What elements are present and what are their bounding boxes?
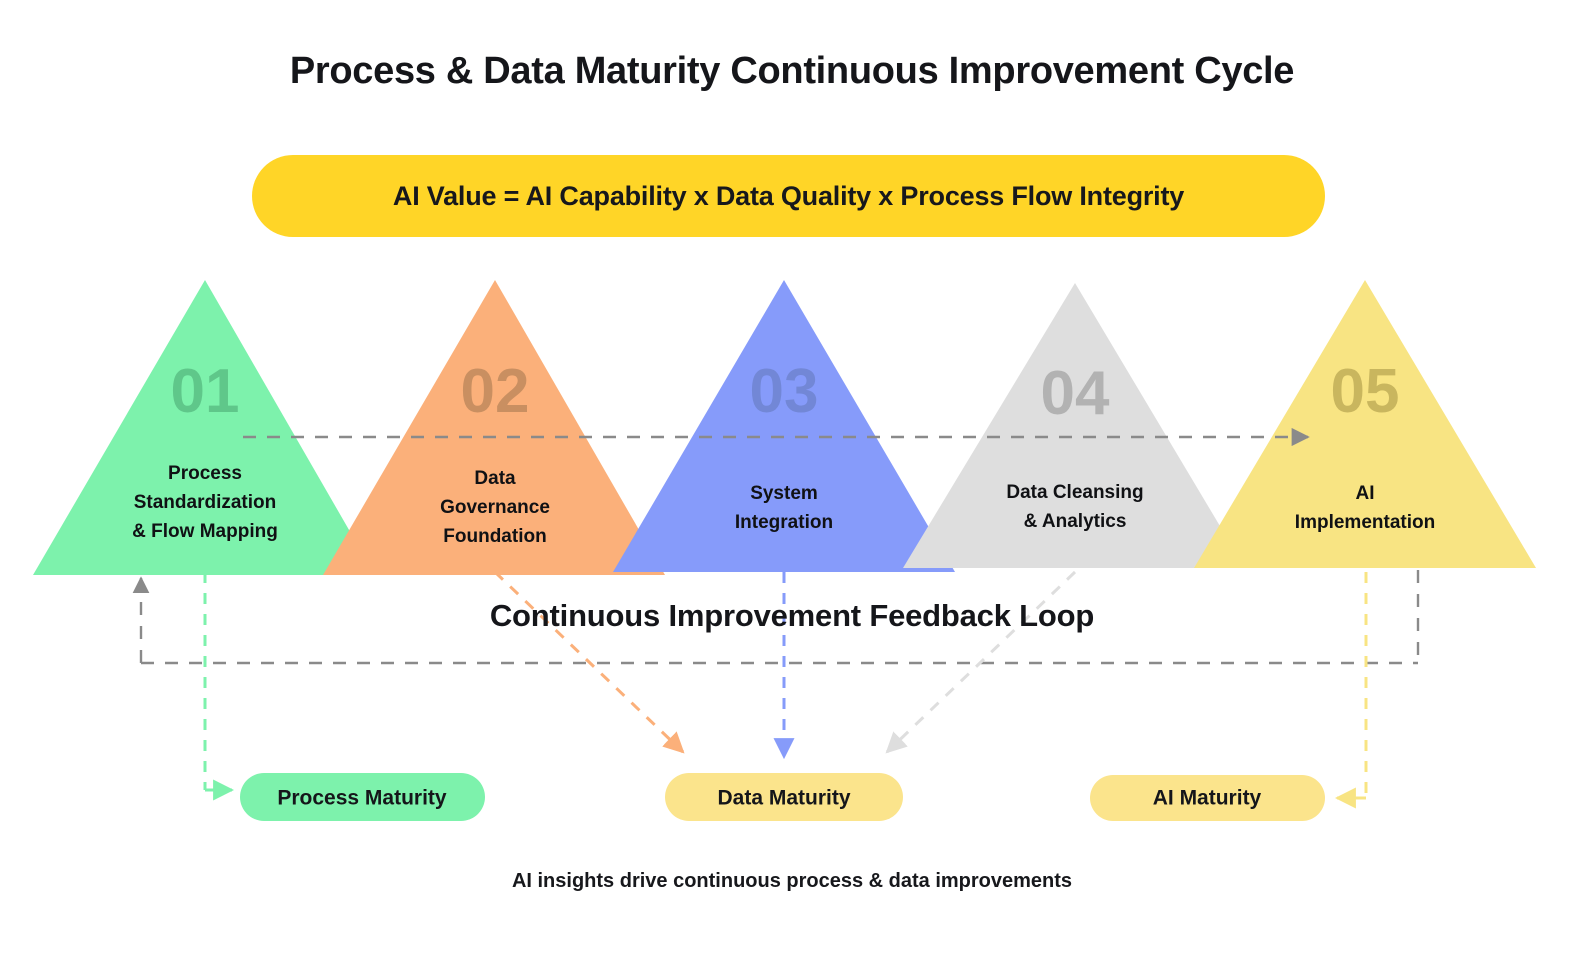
svg-text:System: System bbox=[750, 483, 818, 504]
stage-number-05: 05 bbox=[1331, 357, 1400, 426]
stage-number-03: 03 bbox=[750, 357, 819, 426]
svg-text:Foundation: Foundation bbox=[443, 526, 546, 547]
svg-text:& Analytics: & Analytics bbox=[1024, 511, 1127, 532]
svg-text:Standardization: Standardization bbox=[134, 492, 277, 513]
svg-text:Governance: Governance bbox=[440, 497, 550, 518]
svg-text:AI: AI bbox=[1356, 483, 1375, 504]
badge-data-maturity-label: Data Maturity bbox=[717, 787, 850, 810]
footer-caption: AI insights drive continuous process & d… bbox=[0, 870, 1584, 893]
feedback-loop-title: Continuous Improvement Feedback Loop bbox=[0, 598, 1584, 634]
badge-data-maturity[interactable]: Data Maturity bbox=[665, 773, 903, 821]
badge-ai-maturity-label: AI Maturity bbox=[1153, 787, 1262, 810]
badge-process-maturity-label: Process Maturity bbox=[277, 787, 447, 810]
svg-text:Data Cleansing: Data Cleansing bbox=[1006, 482, 1143, 503]
badge-ai-maturity[interactable]: AI Maturity bbox=[1090, 775, 1325, 821]
maturity-diagram: 01 02 03 04 05 Process Standardization &… bbox=[0, 0, 1584, 966]
svg-text:Implementation: Implementation bbox=[1295, 512, 1435, 533]
svg-text:& Flow Mapping: & Flow Mapping bbox=[132, 521, 278, 542]
svg-text:Integration: Integration bbox=[735, 512, 833, 533]
svg-text:Data: Data bbox=[474, 468, 516, 489]
stage-number-02: 02 bbox=[461, 357, 530, 426]
stage-number-04: 04 bbox=[1041, 359, 1110, 428]
diagram-canvas: Process & Data Maturity Continuous Impro… bbox=[0, 0, 1584, 966]
badge-process-maturity[interactable]: Process Maturity bbox=[240, 773, 485, 821]
svg-text:Process: Process bbox=[168, 463, 242, 484]
stage-number-01: 01 bbox=[171, 357, 240, 426]
